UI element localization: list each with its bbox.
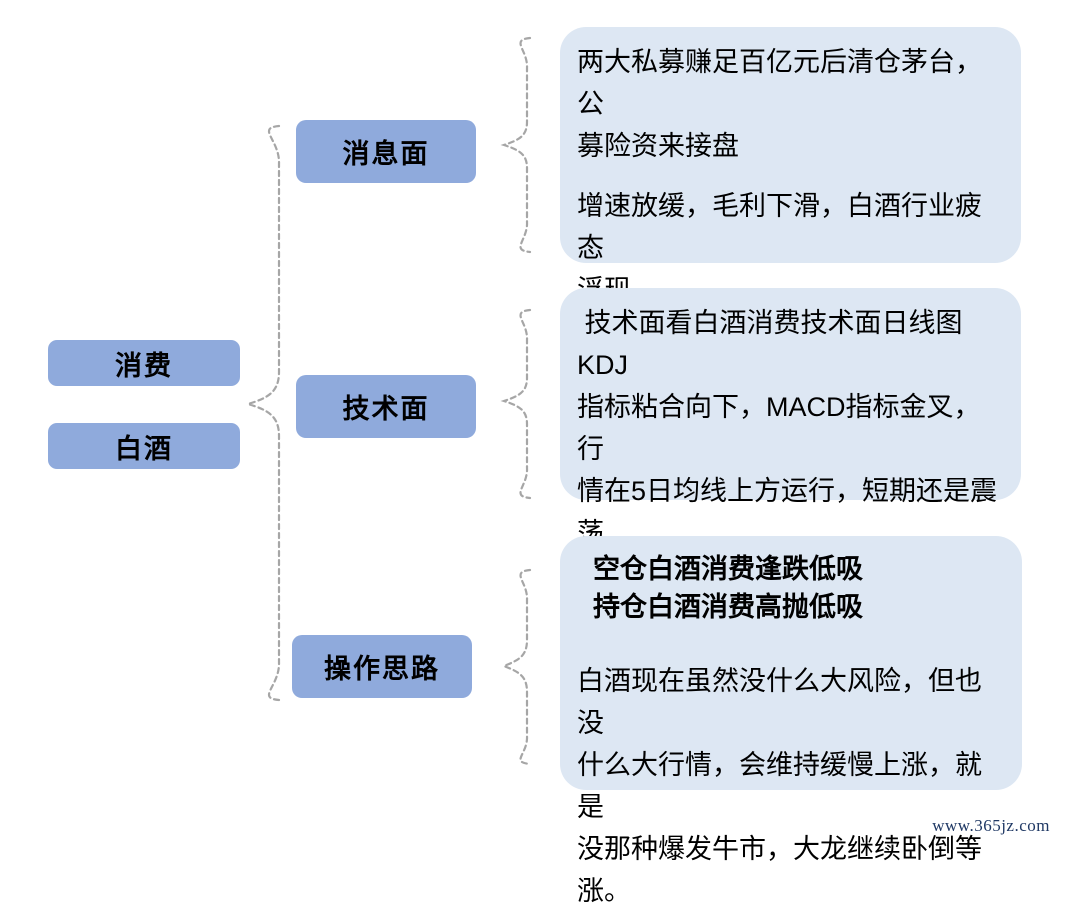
panel-text-line-emphasis: 持仓白酒消费高抛低吸 — [577, 588, 1000, 626]
brace-branch-1 — [504, 310, 530, 498]
root-node-label: 消费 — [115, 344, 173, 383]
panel-text-line: 技术面看白酒消费技术面日线图KDJ — [577, 302, 999, 386]
panel-text-line: 没那种爆发牛市，大龙继续卧倒等涨。 — [577, 828, 1000, 912]
detail-panel-news: 两大私募赚足百亿元后清仓茅台，公 募险资来接盘 增速放缓，毛利下滑，白酒行业疲态… — [560, 27, 1021, 263]
branch-node-label: 消息面 — [343, 132, 430, 171]
panel-text-line: 增速放缓，毛利下滑，白酒行业疲态 — [577, 185, 999, 269]
branch-node-technical[interactable]: 技术面 — [296, 375, 476, 438]
branch-node-label: 技术面 — [343, 387, 430, 426]
detail-panel-strategy: 空仓白酒消费逢跌低吸 持仓白酒消费高抛低吸 白酒现在虽然没什么大风险，但也没 什… — [560, 536, 1022, 790]
brace-root — [248, 126, 279, 700]
brace-branch-2 — [504, 570, 530, 764]
root-node-baijiu[interactable]: 白酒 — [48, 423, 240, 469]
site-watermark: www.365jz.com — [932, 816, 1050, 836]
branch-node-news[interactable]: 消息面 — [296, 120, 476, 183]
panel-text-line: 白酒现在虽然没什么大风险，但也没 — [577, 660, 1000, 744]
panel-text-line: 两大私募赚足百亿元后清仓茅台，公 — [577, 41, 999, 125]
panel-text-line: 指标粘合向下，MACD指标金叉，行 — [577, 386, 999, 470]
panel-text-spacer — [577, 167, 999, 185]
panel-text-spacer — [577, 626, 1000, 660]
panel-text-line-emphasis: 空仓白酒消费逢跌低吸 — [577, 550, 1000, 588]
branch-node-strategy[interactable]: 操作思路 — [292, 635, 472, 698]
mindmap-canvas: 消费 白酒 消息面 技术面 操作思路 两大私募赚足百亿元后清仓茅台，公 募险资来… — [0, 0, 1068, 844]
brace-branch-0 — [504, 38, 530, 252]
root-node-label: 白酒 — [115, 427, 173, 466]
branch-node-label: 操作思路 — [324, 647, 440, 686]
panel-text-line: 募险资来接盘 — [577, 125, 999, 167]
detail-panel-technical: 技术面看白酒消费技术面日线图KDJ 指标粘合向下，MACD指标金叉，行 情在5日… — [560, 288, 1021, 500]
root-node-consumption[interactable]: 消费 — [48, 340, 240, 386]
